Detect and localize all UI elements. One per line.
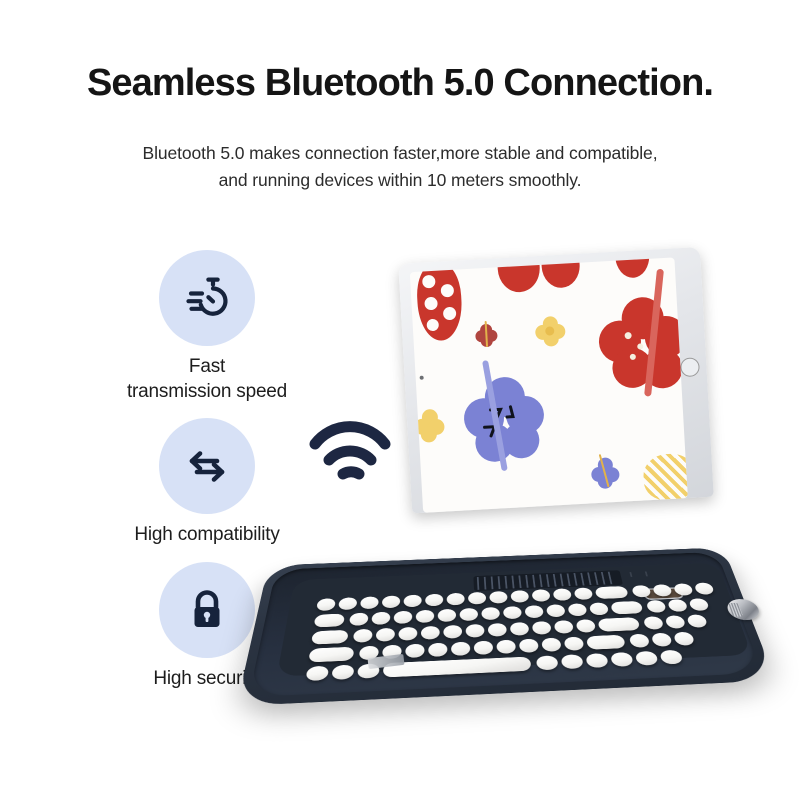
wallpaper-red-dotted-shape xyxy=(415,261,463,341)
page-subtitle: Bluetooth 5.0 makes connection faster,mo… xyxy=(50,140,750,193)
keycap[interactable] xyxy=(393,611,412,624)
page-title: Seamless Bluetooth 5.0 Connection. xyxy=(0,62,800,105)
keycap-caps-lock[interactable] xyxy=(311,630,349,645)
keycap[interactable] xyxy=(634,651,658,666)
wallpaper-red-arc xyxy=(614,257,650,278)
keycap[interactable] xyxy=(510,590,529,603)
keycap[interactable] xyxy=(403,595,421,608)
keycap[interactable] xyxy=(564,637,585,651)
keycap[interactable] xyxy=(443,625,462,639)
padlock-icon xyxy=(179,582,235,638)
status-led xyxy=(629,572,632,577)
keycap-grid xyxy=(304,581,776,693)
keycap[interactable] xyxy=(631,585,652,598)
wallpaper-yellow-flower xyxy=(534,316,566,348)
keycap[interactable] xyxy=(651,633,673,647)
stopwatch-speed-icon xyxy=(179,270,235,326)
keycap[interactable] xyxy=(541,638,562,652)
keycap[interactable] xyxy=(686,614,708,627)
keycap[interactable] xyxy=(532,621,552,635)
keycap[interactable] xyxy=(460,608,479,621)
product-marketing-banner: Seamless Bluetooth 5.0 Connection. Bluet… xyxy=(0,0,800,800)
keycap[interactable] xyxy=(694,582,715,594)
subtitle-line-1: Bluetooth 5.0 makes connection faster,mo… xyxy=(50,140,750,167)
keycap[interactable] xyxy=(360,596,379,609)
keycap[interactable] xyxy=(447,593,465,606)
keycap[interactable] xyxy=(567,603,587,616)
keycap[interactable] xyxy=(524,605,544,618)
keycap[interactable] xyxy=(688,598,710,611)
keycap[interactable] xyxy=(305,666,329,681)
keycap[interactable] xyxy=(585,653,609,668)
keycap[interactable] xyxy=(536,655,559,670)
keycap[interactable] xyxy=(629,634,651,648)
keycap[interactable] xyxy=(664,615,686,629)
keycap-spacebar[interactable] xyxy=(383,657,532,678)
keycap[interactable] xyxy=(667,599,689,612)
keycap[interactable] xyxy=(659,650,684,665)
keycap[interactable] xyxy=(349,613,369,626)
keycap[interactable] xyxy=(519,639,539,653)
retro-typewriter-bluetooth-keyboard xyxy=(240,460,800,730)
keycap[interactable] xyxy=(531,589,550,602)
keycap[interactable] xyxy=(610,652,634,667)
keycap[interactable] xyxy=(331,665,354,680)
keycap[interactable] xyxy=(673,583,694,595)
keycap[interactable] xyxy=(438,609,456,622)
keycap[interactable] xyxy=(652,584,673,596)
knob-ribbing xyxy=(728,603,743,617)
keycap[interactable] xyxy=(376,628,396,642)
keycap[interactable] xyxy=(488,623,507,637)
keycap[interactable] xyxy=(451,642,470,656)
keycap[interactable] xyxy=(546,604,566,617)
keycap[interactable] xyxy=(503,606,522,619)
wallpaper-red-arc xyxy=(540,257,580,288)
tablet-front-camera xyxy=(420,376,424,380)
wallpaper-large-red-flower xyxy=(597,295,688,392)
keycap-backspace[interactable] xyxy=(595,586,629,599)
keycap[interactable] xyxy=(576,619,597,633)
keycap[interactable] xyxy=(353,629,373,643)
keycap[interactable] xyxy=(643,616,665,630)
keycap[interactable] xyxy=(425,594,443,607)
keycap[interactable] xyxy=(428,643,447,657)
keycap[interactable] xyxy=(553,588,573,601)
keycap-return[interactable] xyxy=(597,617,640,632)
product-photo xyxy=(240,245,800,765)
keycap[interactable] xyxy=(421,626,440,640)
status-led xyxy=(645,571,648,576)
keycap[interactable] xyxy=(466,624,485,638)
wallpaper-small-red-flower xyxy=(475,323,498,346)
keycap-shift[interactable] xyxy=(308,647,354,663)
wallpaper-blue-flower-face xyxy=(462,375,547,465)
wallpaper-red-arc xyxy=(496,257,541,293)
keycap[interactable] xyxy=(646,600,667,613)
keycap[interactable] xyxy=(316,598,336,611)
keyboard-chassis xyxy=(237,547,776,706)
keycap[interactable] xyxy=(481,607,500,620)
keycap[interactable] xyxy=(589,602,609,615)
keycap[interactable] xyxy=(474,641,494,655)
keyboard-inner-lip xyxy=(249,552,763,697)
keycap[interactable] xyxy=(496,640,516,654)
keycap-tab[interactable] xyxy=(314,614,345,628)
bidirectional-arrows-icon xyxy=(179,438,235,494)
keycap[interactable] xyxy=(338,597,357,610)
keycap[interactable] xyxy=(574,587,594,600)
keycap[interactable] xyxy=(382,595,401,608)
keycap[interactable] xyxy=(554,620,574,634)
keycap[interactable] xyxy=(398,627,417,641)
keycap[interactable] xyxy=(510,622,530,636)
keyboard-deck xyxy=(277,563,752,677)
keycap[interactable] xyxy=(561,654,584,669)
keycap[interactable] xyxy=(468,592,486,605)
keycap-right-shift[interactable] xyxy=(586,635,626,650)
subtitle-line-2: and running devices within 10 meters smo… xyxy=(50,167,750,194)
keycap[interactable] xyxy=(371,612,390,625)
keycap[interactable] xyxy=(416,610,434,623)
wallpaper-yellow-flower xyxy=(413,409,445,443)
keycap[interactable] xyxy=(489,591,508,604)
keycap[interactable] xyxy=(673,632,696,646)
keycap-enter[interactable] xyxy=(610,601,643,615)
keycap[interactable] xyxy=(405,644,424,659)
